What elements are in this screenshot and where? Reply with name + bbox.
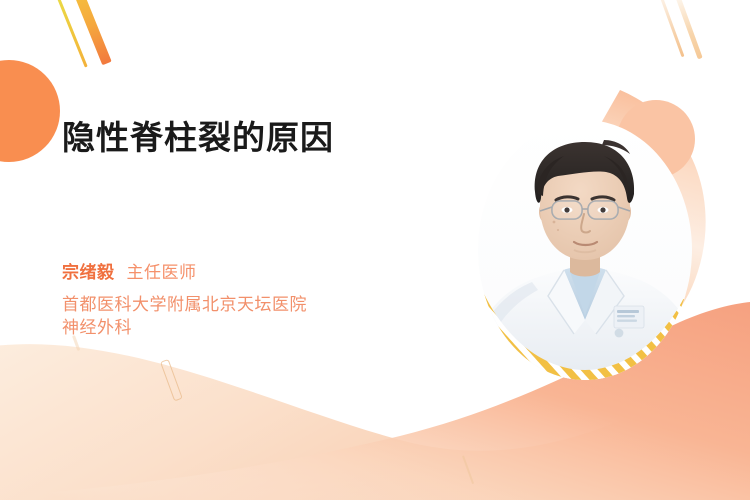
faint-diagonal-stripe-c	[462, 455, 474, 484]
doctor-department: 神经外科	[62, 316, 462, 339]
orange-diagonal-stripe	[68, 0, 112, 65]
orange-circle	[0, 60, 60, 162]
faint-diagonal-stripe-b	[672, 0, 703, 59]
page-title: 隐性脊柱裂的原因	[62, 118, 462, 158]
doctor-identity: 宗绪毅 主任医师	[62, 258, 462, 283]
doctor-portrait	[478, 120, 693, 380]
doctor-name: 宗绪毅	[62, 258, 115, 283]
text-block: 隐性脊柱裂的原因 宗绪毅 主任医师 首都医科大学附属北京天坛医院 神经外科	[62, 118, 462, 339]
doctor-title: 主任医师	[127, 258, 197, 283]
video-cover-card: 隐性脊柱裂的原因 宗绪毅 主任医师 首都医科大学附属北京天坛医院 神经外科	[0, 0, 750, 500]
faint-diagonal-stripe-a	[655, 0, 684, 57]
outline-diagonal-stripe	[160, 359, 183, 402]
yellow-diagonal-stripe	[52, 0, 88, 68]
doctor-hospital: 首都医科大学附属北京天坛医院	[62, 293, 462, 316]
